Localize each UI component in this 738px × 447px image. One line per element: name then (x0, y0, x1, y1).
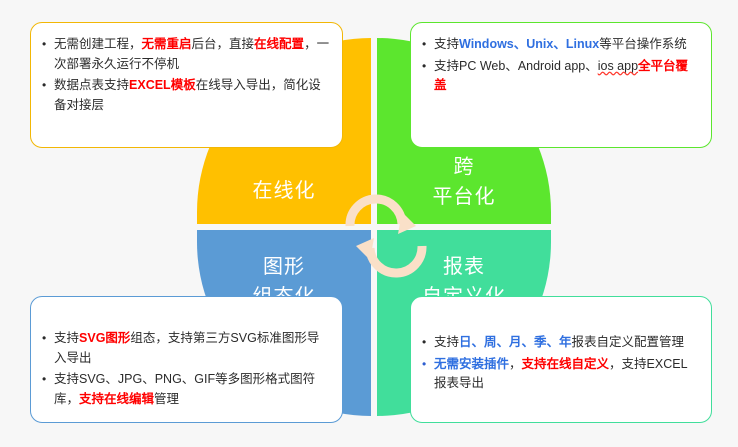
list-item: 支持日、周、月、季、年报表自定义配置管理 (421, 333, 699, 353)
quadrant-cross-platform-line2: 平台化 (377, 182, 551, 212)
text-segment: 管理 (154, 392, 179, 406)
text-segment: 后台，直接 (192, 37, 255, 51)
quadrant-online-label: 在线化 (197, 176, 371, 206)
callout-top-right[interactable]: 支持Windows、Unix、Linux等平台操作系统 支持PC Web、And… (410, 22, 712, 148)
callout-top-left[interactable]: 无需创建工程，无需重启后台，直接在线配置，一次部署永久运行不停机 数据点表支持E… (30, 22, 343, 148)
text-segment: ， (509, 357, 522, 371)
text-segment-highlight: EXCEL模板 (129, 78, 196, 92)
list-item: 支持SVG、JPG、PNG、GIF等多图形格式图符库，支持在线编辑管理 (41, 370, 330, 409)
quadrant-cross-platform-label: 跨 平台化 (377, 152, 551, 212)
text-segment: 报表自定义配置管理 (572, 335, 685, 349)
quadrant-graphics-line1: 图形 (263, 256, 305, 278)
callout-top-right-list: 支持Windows、Unix、Linux等平台操作系统 支持PC Web、And… (421, 35, 699, 96)
list-item: 支持Windows、Unix、Linux等平台操作系统 (421, 35, 699, 55)
text-segment: 支持 (434, 37, 459, 51)
quadrant-report-line1: 报表 (443, 256, 485, 278)
callout-top-left-list: 无需创建工程，无需重启后台，直接在线配置，一次部署永久运行不停机 数据点表支持E… (41, 35, 330, 115)
list-item: 数据点表支持EXCEL模板在线导入导出，简化设备对接层 (41, 76, 330, 115)
list-item: 支持PC Web、Android app、ios app全平台覆盖 (421, 57, 699, 96)
text-segment: 无需创建工程， (54, 37, 142, 51)
callout-bottom-right-list: 支持日、周、月、季、年报表自定义配置管理 无需安装插件，支持在线自定义，支持EX… (421, 333, 699, 394)
list-item: 无需安装插件，支持在线自定义，支持EXCEL报表导出 (421, 355, 699, 394)
callout-bottom-left-list: 支持SVG图形组态，支持第三方SVG标准图形导入导出 支持SVG、JPG、PNG… (41, 329, 330, 409)
list-item: 无需创建工程，无需重启后台，直接在线配置，一次部署永久运行不停机 (41, 35, 330, 74)
callout-bottom-left[interactable]: 支持SVG图形组态，支持第三方SVG标准图形导入导出 支持SVG、JPG、PNG… (30, 296, 343, 423)
quadrant-online-line1: 在线化 (253, 180, 316, 202)
text-segment-highlight: Windows、Unix、Linux (459, 37, 599, 51)
text-segment: 支持 (54, 331, 79, 345)
text-segment-highlight: 无需安装插件 (434, 357, 509, 371)
text-segment: 数据点表支持 (54, 78, 129, 92)
text-segment: 等平台操作系统 (599, 37, 687, 51)
callout-bottom-right[interactable]: 支持日、周、月、季、年报表自定义配置管理 无需安装插件，支持在线自定义，支持EX… (410, 296, 712, 423)
text-segment-highlight: 支持在线自定义 (522, 357, 610, 371)
text-segment-highlight: 支持在线编辑 (79, 392, 154, 406)
quadrant-cross-platform-line1: 跨 (454, 156, 475, 178)
text-segment-highlight: 日、周、月、季、年 (459, 335, 572, 349)
text-segment-highlight: SVG图形 (79, 331, 130, 345)
text-segment-highlight: 无需重启 (142, 37, 192, 51)
text-segment: 支持 (434, 335, 459, 349)
text-segment-highlight: 在线配置 (254, 37, 304, 51)
text-segment-misspelled: ios app (598, 59, 638, 73)
list-item: 支持SVG图形组态，支持第三方SVG标准图形导入导出 (41, 329, 330, 368)
diagram-canvas: 在线化 跨 平台化 图形 组态化 报表 自定义化 (0, 0, 738, 447)
text-segment: 支持PC Web、Android app、 (434, 59, 598, 73)
